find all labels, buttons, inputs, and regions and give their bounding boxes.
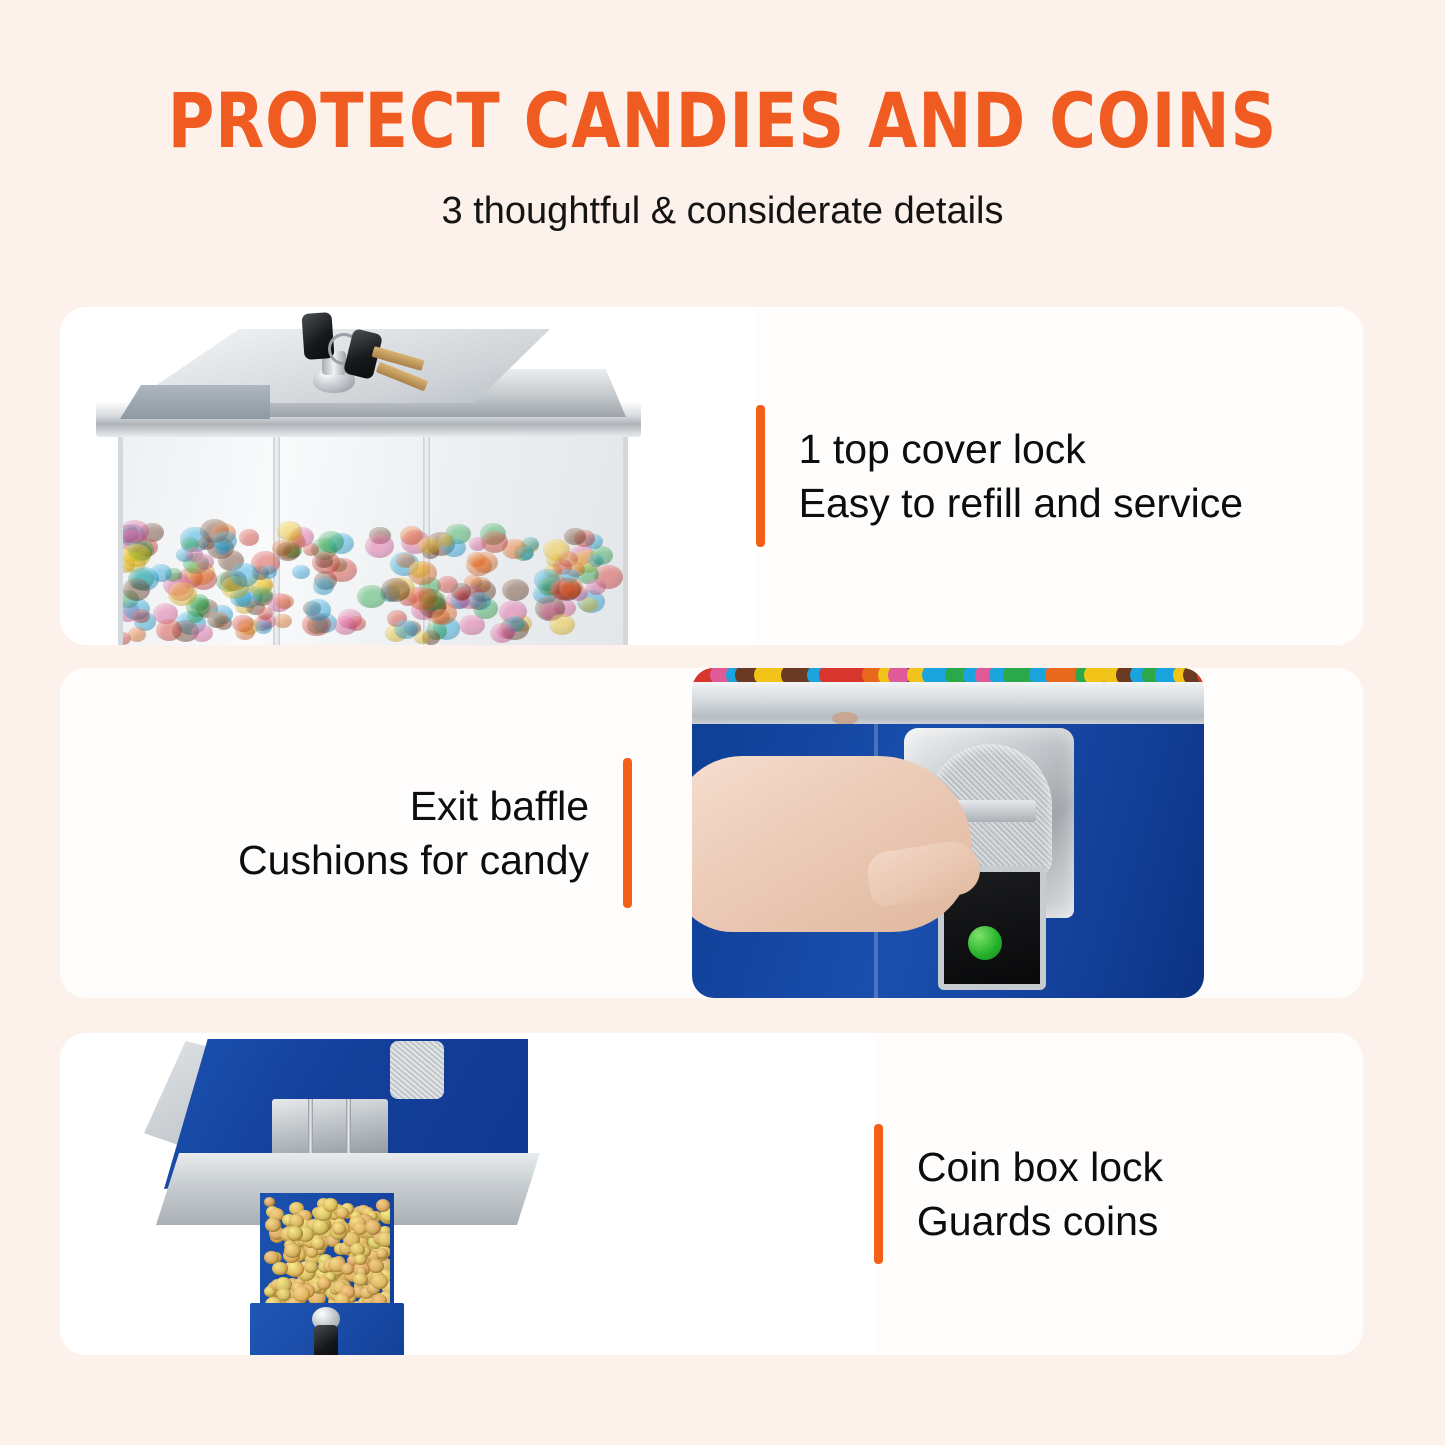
page-title: PROTECT CANDIES AND COINS (51, 78, 1395, 164)
caption-line-1: 1 top cover lock (799, 422, 1243, 476)
photo-coin-box-lock (60, 1033, 874, 1355)
feature-card-top-cover-lock: 1 top cover lock Easy to refill and serv… (60, 307, 1363, 645)
accent-bar (756, 405, 765, 547)
caption-coin-box-lock: Coin box lock Guards coins (874, 1033, 1363, 1355)
candy-hopper (118, 429, 628, 645)
candy-pile (123, 517, 623, 645)
caption-line-1: Exit baffle (238, 779, 589, 833)
header: PROTECT CANDIES AND COINS 3 thoughtful &… (0, 78, 1445, 234)
caption-line-1: Coin box lock (917, 1140, 1163, 1194)
feature-card-coin-box-lock: Coin box lock Guards coins (60, 1033, 1363, 1355)
caption-line-2: Easy to refill and service (799, 476, 1243, 530)
page-subtitle: 3 thoughtful & considerate details (0, 188, 1445, 234)
photo-exit-baffle (692, 668, 1204, 998)
accent-bar (623, 758, 632, 908)
caption-line-2: Guards coins (917, 1194, 1163, 1248)
key-icon (314, 1325, 338, 1355)
caption-line-2: Cushions for candy (238, 833, 589, 887)
infographic-page: PROTECT CANDIES AND COINS 3 thoughtful &… (0, 0, 1445, 1445)
caption-top-cover-lock: 1 top cover lock Easy to refill and serv… (756, 307, 1363, 645)
photo-top-cover-lock (60, 307, 756, 645)
feature-card-exit-baffle: Exit baffle Cushions for candy (60, 668, 1363, 998)
caption-exit-baffle: Exit baffle Cushions for candy (60, 668, 632, 998)
candy-ball (968, 926, 1002, 960)
lid-bevel (120, 385, 270, 419)
accent-bar (874, 1124, 883, 1264)
latch (390, 1041, 444, 1099)
coin-pile (264, 1197, 390, 1315)
coin-mechanism-window (272, 1099, 388, 1159)
